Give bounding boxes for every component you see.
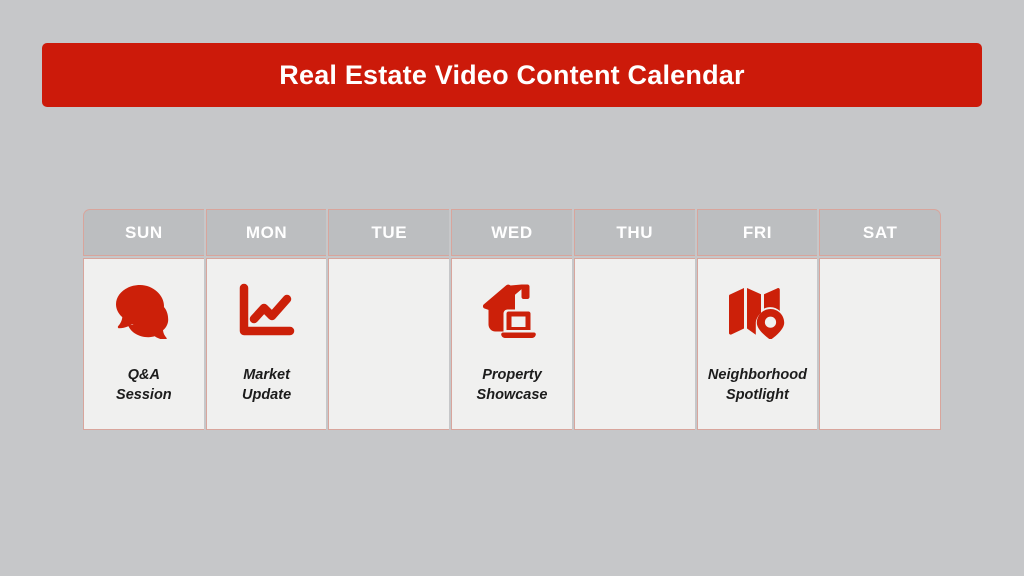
calendar-cell-wed[interactable]: Property Showcase [451, 258, 572, 430]
calendar-cell-sun[interactable]: Q&A Session [83, 258, 204, 430]
day-header-label: THU [616, 223, 653, 243]
day-header-thu: THU [574, 209, 695, 256]
day-header-label: FRI [743, 223, 772, 243]
day-header-label: TUE [371, 223, 407, 243]
day-header-sun: SUN [83, 209, 204, 256]
calendar-cell-mon[interactable]: Market Update [206, 258, 327, 430]
day-header-sat: SAT [819, 209, 941, 256]
calendar-header-row: SUN MON TUE WED THU FRI SAT [83, 209, 941, 256]
calendar-cell-sat[interactable] [819, 258, 941, 430]
day-header-fri: FRI [697, 209, 818, 256]
line-chart-icon [235, 281, 299, 341]
cell-label: Q&A Session [116, 366, 172, 405]
day-header-label: MON [246, 223, 287, 243]
house-laptop-icon [480, 281, 544, 341]
page-title: Real Estate Video Content Calendar [279, 62, 744, 89]
cell-label: Property Showcase [477, 366, 548, 405]
content-calendar: SUN MON TUE WED THU FRI SAT [83, 209, 941, 430]
calendar-cell-tue[interactable] [328, 258, 449, 430]
map-pin-icon [725, 281, 789, 341]
calendar-body-row: Q&A Session Market Update [83, 258, 941, 430]
day-header-tue: TUE [328, 209, 449, 256]
day-header-label: WED [491, 223, 532, 243]
chat-bubbles-icon [112, 281, 176, 341]
day-header-mon: MON [206, 209, 327, 256]
day-header-wed: WED [451, 209, 572, 256]
calendar-cell-fri[interactable]: Neighborhood Spotlight [697, 258, 818, 430]
calendar-cell-thu[interactable] [574, 258, 695, 430]
title-banner: Real Estate Video Content Calendar [42, 43, 982, 107]
cell-label: Neighborhood Spotlight [708, 366, 807, 405]
cell-label: Market Update [242, 366, 291, 405]
day-header-label: SUN [125, 223, 163, 243]
day-header-label: SAT [863, 223, 898, 243]
